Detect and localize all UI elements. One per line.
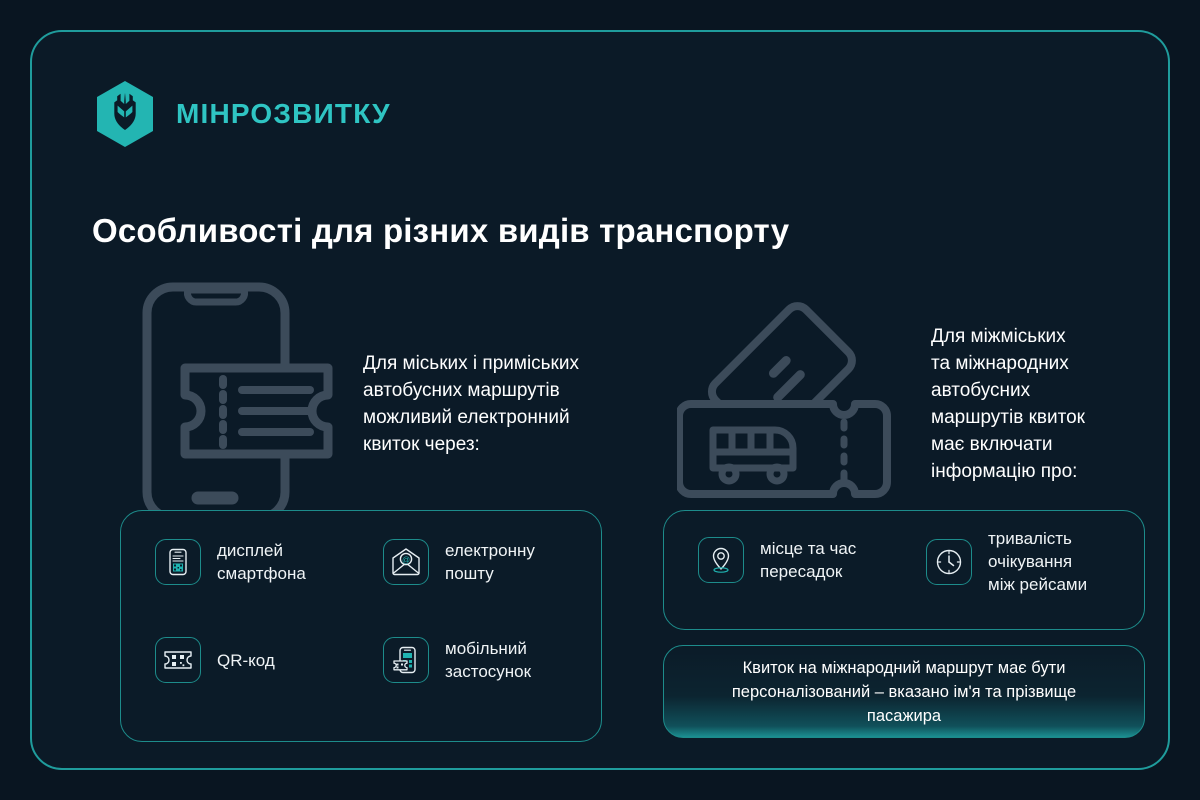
list-item-label: тривалість очікування між рейсами [988,527,1087,596]
left-intro-text: Для міських і приміських автобусних марш… [363,350,579,458]
electronic-ticket-options-card: дисплей смартфона @ електронну пошту [120,510,602,742]
infographic-canvas: МІНРОЗВИТКУ Особливості для різних видів… [0,0,1200,800]
brand-logo: МІНРОЗВИТКУ [94,80,391,148]
svg-text:@: @ [402,556,410,565]
ukrainian-trident-icon [94,80,156,148]
bus-tickets-illustration [677,294,902,524]
ticket-info-card: місце та час пересадок [663,510,1145,630]
list-item-smartphone-display[interactable]: дисплей смартфона [155,539,306,585]
email-envelope-icon: @ [383,539,429,585]
list-item-wait-duration[interactable]: тривалість очікування між рейсами [926,527,1087,596]
personalized-ticket-banner: Квиток на міжнародний маршрут має бути п… [663,645,1145,738]
list-item-label: електронну пошту [445,539,535,585]
outer-frame: МІНРОЗВИТКУ Особливості для різних видів… [30,30,1170,770]
list-item-label: місце та час пересадок [760,537,856,583]
right-intro-text: Для міжміських та міжнародних автобусних… [931,323,1085,485]
qr-ticket-icon [155,637,201,683]
smartphone-with-ticket-illustration [140,280,340,530]
map-pin-icon [698,537,744,583]
list-item-label: мобільний застосунок [445,637,531,683]
list-item-label: дисплей смартфона [217,539,306,585]
list-item-email[interactable]: @ електронну пошту [383,539,535,585]
list-item-mobile-app[interactable]: мобільний застосунок [383,637,531,683]
brand-name: МІНРОЗВИТКУ [176,98,391,130]
mobile-app-icon [383,637,429,683]
list-item-transfer-place-time[interactable]: місце та час пересадок [698,537,856,583]
list-item-label: QR-код [217,649,275,672]
smartphone-display-icon [155,539,201,585]
banner-text: Квиток на міжнародний маршрут має бути п… [732,656,1076,728]
list-item-qr-code[interactable]: QR-код [155,637,275,683]
clock-icon [926,539,972,585]
page-title: Особливості для різних видів транспорту [92,212,789,250]
